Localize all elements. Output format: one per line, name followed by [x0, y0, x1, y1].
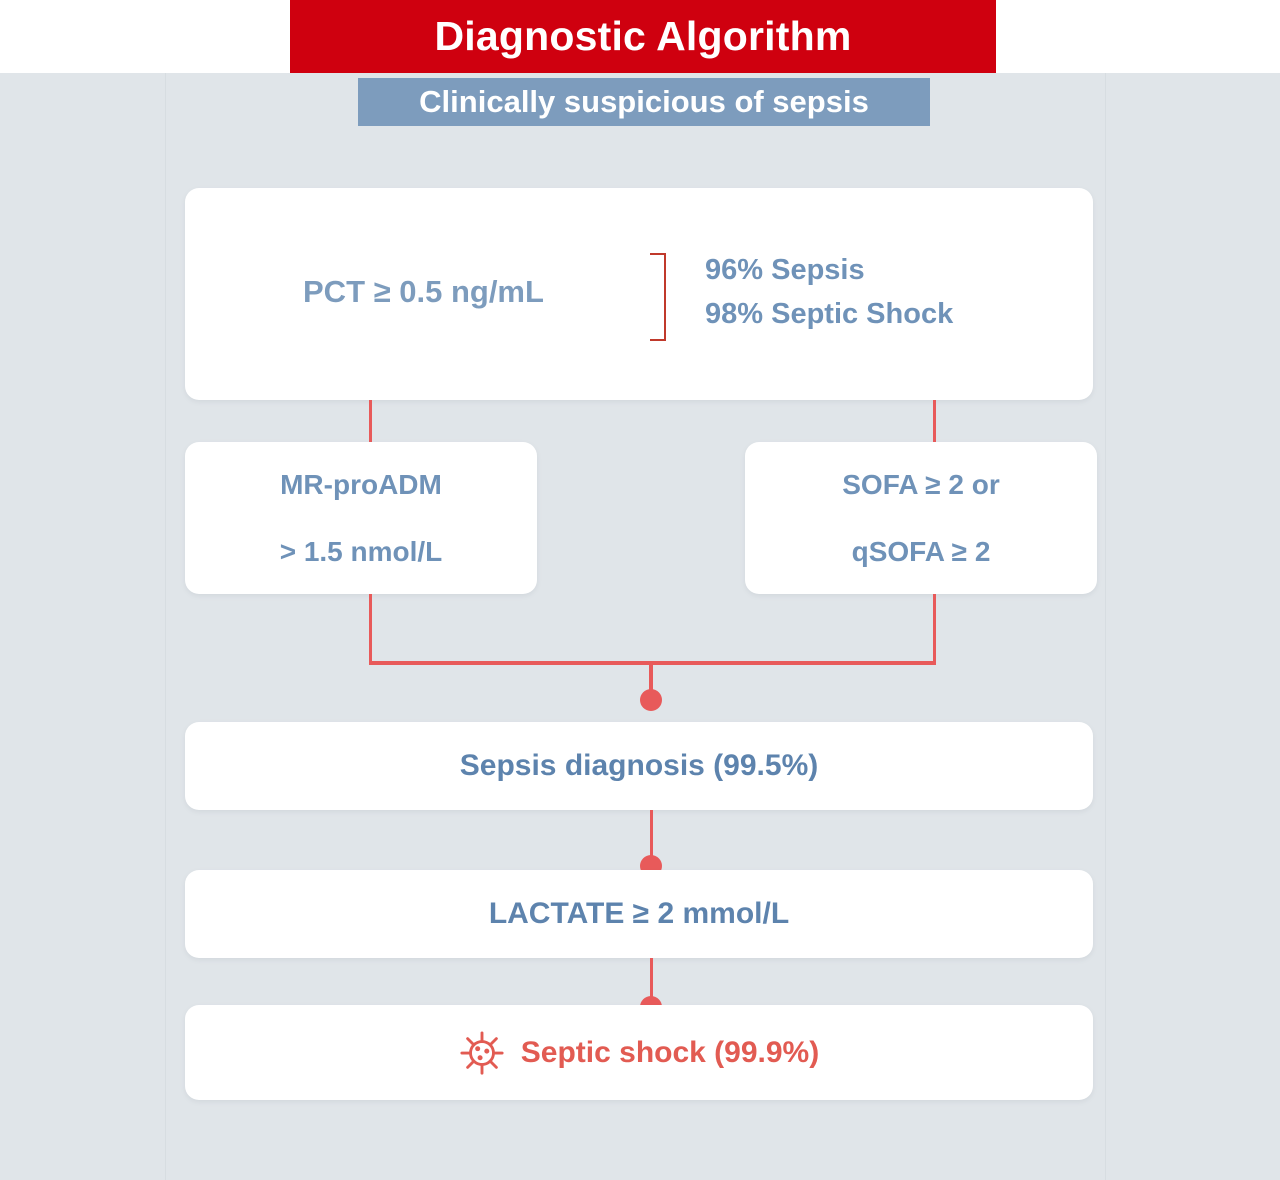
mrproadm-line-1: MR-proADM: [280, 451, 443, 518]
pct-stat-sepsis: 96% Sepsis: [705, 248, 953, 292]
figure-subtitle-banner: Clinically suspicious of sepsis: [358, 78, 930, 126]
right-guide-line: [1105, 73, 1106, 1180]
pct-stat-septic-shock: 98% Septic Shock: [705, 292, 953, 336]
sofa-line-1: SOFA ≥ 2 or: [842, 451, 999, 518]
pct-card-content: PCT ≥ 0.5 ng/mL 96% Sepsis 98% Septic Sh…: [185, 188, 1093, 400]
virus-icon: [459, 1030, 505, 1076]
left-guide-line: [165, 73, 166, 1180]
sepsis-diagnosis-label: Sepsis diagnosis (99.5%): [460, 749, 818, 783]
sofa-line-2: qSOFA ≥ 2: [842, 518, 999, 585]
step-card-mrproadm: MR-proADM > 1.5 nmol/L: [185, 442, 537, 594]
step-card-lactate: LACTATE ≥ 2 mmol/L: [185, 870, 1093, 958]
pct-statistics: 96% Sepsis 98% Septic Shock: [705, 248, 953, 336]
step-card-sepsis-diagnosis: Sepsis diagnosis (99.5%): [185, 722, 1093, 810]
septic-shock-label: Septic shock (99.9%): [521, 1036, 819, 1070]
lactate-label: LACTATE ≥ 2 mmol/L: [489, 897, 789, 931]
connector-pct-to-sofa: [933, 400, 936, 442]
pct-threshold-label: PCT ≥ 0.5 ng/mL: [303, 274, 544, 310]
figure-subtitle: Clinically suspicious of sepsis: [419, 84, 869, 120]
junction-dot-sepsis: [640, 689, 662, 711]
connector-sofa-down: [933, 594, 936, 664]
sofa-content: SOFA ≥ 2 or qSOFA ≥ 2: [842, 451, 999, 585]
figure-title: Diagnostic Algorithm: [434, 13, 851, 60]
mrproadm-line-2: > 1.5 nmol/L: [280, 518, 443, 585]
step-card-pct: PCT ≥ 0.5 ng/mL 96% Sepsis 98% Septic Sh…: [185, 188, 1093, 400]
connector-mrproadm-down: [369, 594, 372, 664]
septic-shock-content: Septic shock (99.9%): [459, 1030, 819, 1076]
diagnostic-algorithm-figure: Diagnostic Algorithm Clinically suspicio…: [0, 0, 1280, 1180]
step-card-septic-shock: Septic shock (99.9%): [185, 1005, 1093, 1100]
figure-title-banner: Diagnostic Algorithm: [290, 0, 996, 73]
step-card-sofa: SOFA ≥ 2 or qSOFA ≥ 2: [745, 442, 1097, 594]
connector-pct-to-mrproadm: [369, 400, 372, 442]
bracket-icon: [650, 253, 666, 341]
mrproadm-content: MR-proADM > 1.5 nmol/L: [280, 451, 443, 585]
